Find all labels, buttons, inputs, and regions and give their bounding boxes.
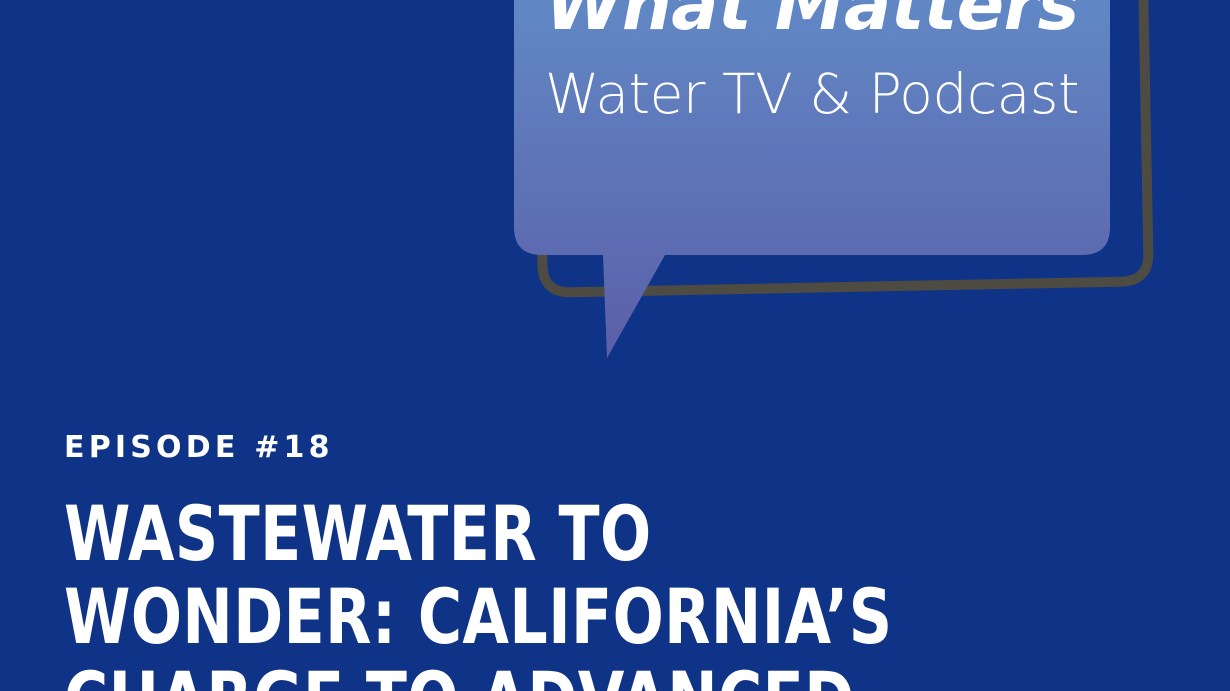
episode-title: WASTEWATER TO WONDER: CALIFORNIA’S CHARG…	[64, 492, 1032, 691]
speech-bubble-fill	[514, 0, 1110, 358]
episode-text-block: EPISODE #18 WASTEWATER TO WONDER: CALIFO…	[64, 430, 1164, 691]
speech-bubble-artwork	[0, 0, 1230, 394]
speech-bubble-logo	[0, 0, 1230, 394]
episode-number-label: EPISODE #18	[64, 430, 1164, 466]
podcast-episode-title-card: What Matters Water TV & Podcast EPISODE …	[0, 0, 1230, 691]
